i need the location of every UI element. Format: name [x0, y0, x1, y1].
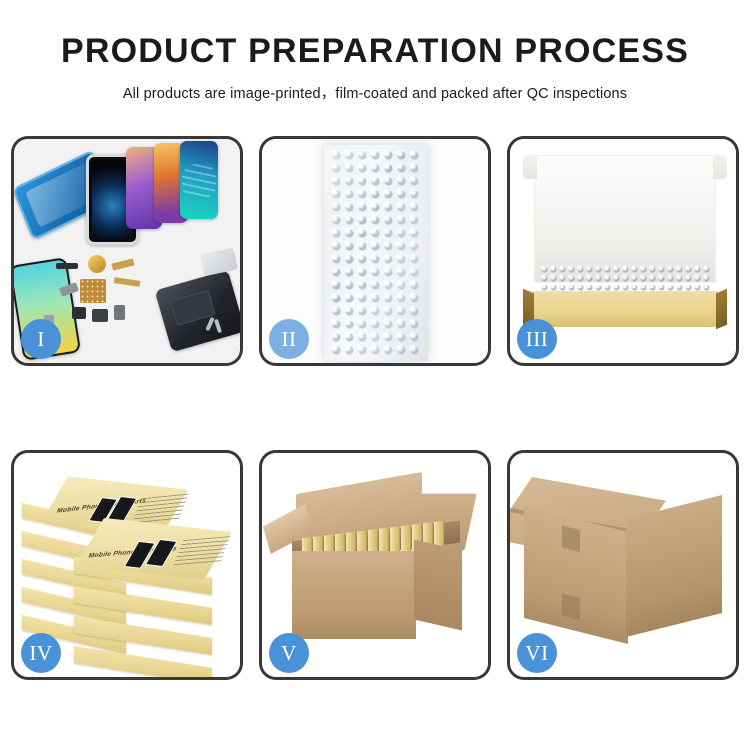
page-title: PRODUCT PREPARATION PROCESS [0, 34, 750, 70]
process-step-panel-2: II [259, 136, 491, 366]
sealed-carton-side-panel [626, 495, 722, 637]
step-badge-numeral: V [269, 633, 309, 673]
flex-cable-part-2 [114, 277, 141, 287]
bubble-wrap-sleeve [324, 145, 428, 361]
step-badge-numeral: VI [517, 633, 557, 673]
camera-module-part [88, 255, 106, 273]
retail-box-spec-text [131, 494, 188, 525]
tool-kit-part [200, 248, 238, 277]
carton-tape-mark-lower [562, 594, 580, 620]
taptic-engine-part [92, 309, 108, 322]
process-step-panel-3: III [507, 136, 739, 366]
retail-box-spec-text [173, 536, 231, 566]
battery-connector-part [56, 263, 78, 269]
process-steps-grid: I II III Mobile Ph [11, 136, 739, 680]
phone-display-teal [180, 141, 218, 219]
process-step-panel-5: V [259, 450, 491, 680]
carton-tape-mark-upper [562, 526, 580, 552]
sim-tray-part [114, 305, 125, 320]
phone-motherboard [155, 270, 240, 352]
mailer-box-front-panel [532, 291, 718, 327]
header: PRODUCT PREPARATION PROCESS All products… [0, 0, 750, 103]
process-step-panel-4: Mobile Phone Spare Parts Mobile Phone Sp… [11, 450, 243, 680]
ic-chip-part [80, 279, 106, 303]
process-step-panel-1: I [11, 136, 243, 366]
page-subtitle: All products are image-printed，film-coat… [0, 82, 750, 103]
step-badge-numeral: I [21, 319, 61, 359]
step-badge-numeral: II [269, 319, 309, 359]
flex-cable-part-1 [111, 258, 134, 270]
carton-front-panel [292, 551, 416, 639]
vibrator-part [72, 307, 86, 319]
step-badge-numeral: IV [21, 633, 61, 673]
step-badge-numeral: III [517, 319, 557, 359]
mailer-box-lid [534, 155, 716, 283]
process-step-panel-6: VI [507, 450, 739, 680]
bubble-wrap-inside-box [540, 265, 710, 293]
carton-side-panel [414, 539, 462, 630]
